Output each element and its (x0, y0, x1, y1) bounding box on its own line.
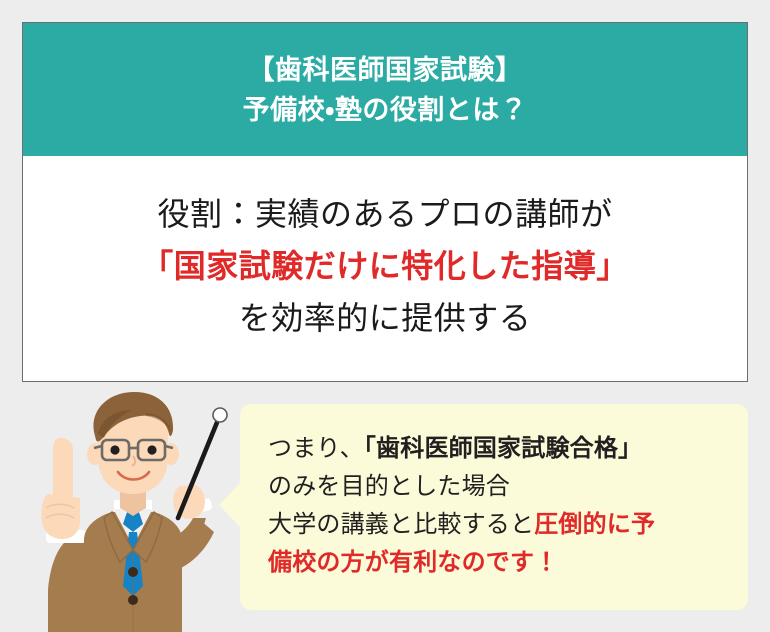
card-body: 役割：実績のあるプロの講師が 「国家試験だけに特化した指導」 を効率的に提供する (23, 156, 747, 381)
eye-right (147, 445, 156, 454)
balloon-tail-icon (219, 482, 241, 528)
eye-left (110, 445, 119, 454)
header-title-line-2: 予備校・塾の役割とは？ (243, 90, 528, 130)
main-card: 【歯科医師国家試験】 予備校・塾の役割とは？ 役割：実績のあるプロの講師が 「国… (22, 22, 748, 382)
suit-button (128, 595, 138, 605)
callout-line-1-bold: 「歯科医師国家試験合格」 (364, 435, 642, 462)
bottom-section: つまり、「歯科医師国家試験合格」 のみを目的とした場合 大学の講義と比較すると圧… (0, 382, 770, 632)
card-header: 【歯科医師国家試験】 予備校・塾の役割とは？ (23, 23, 747, 156)
callout-line-3-accent: 圧倒的に予 (534, 511, 655, 538)
teacher-illustration (28, 390, 238, 632)
callout-line-2: のみを目的とした場合 (268, 468, 730, 506)
header-title-line-1: 【歯科医師国家試験】 (248, 50, 523, 90)
callout-line-1: つまり、「歯科医師国家試験合格」 (268, 430, 730, 468)
body-line-2-highlight: 「国家試験だけに特化した指導」 (141, 240, 629, 292)
callout-line-1-plain: つまり、 (268, 435, 364, 462)
callout-balloon: つまり、「歯科医師国家試験合格」 のみを目的とした場合 大学の講義と比較すると圧… (240, 404, 748, 610)
callout-line-4: 備校の方が有利なのです！ (268, 544, 730, 582)
callout-line-3: 大学の講義と比較すると圧倒的に予 (268, 506, 730, 544)
body-line-3: を効率的に提供する (239, 292, 532, 344)
callout-line-3-plain: 大学の講義と比較すると (268, 511, 534, 538)
suit-button (128, 567, 138, 577)
teacher-figure-icon (28, 390, 238, 632)
infographic-root: 【歯科医師国家試験】 予備校・塾の役割とは？ 役割：実績のあるプロの講師が 「国… (0, 0, 770, 632)
body-line-1: 役割：実績のあるプロの講師が (157, 188, 612, 240)
